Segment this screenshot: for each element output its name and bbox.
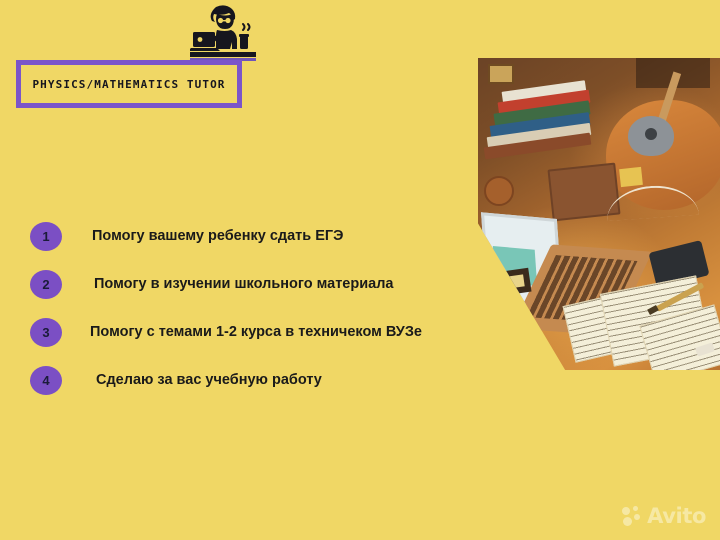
services-list: 1 Помогу вашему ребенку сдать ЕГЭ 2 Помо… <box>30 212 470 404</box>
wall-picture-frame <box>488 64 514 84</box>
list-item-number-badge: 4 <box>30 366 62 395</box>
tutor-advertisement-poster: PHYSICS/MATHEMATICS TUTOR 1 Помогу вашем… <box>0 0 720 540</box>
list-item-label: Помогу в изучении школьного материала <box>94 276 393 292</box>
list-item: 1 Помогу вашему ребенку сдать ЕГЭ <box>30 212 470 260</box>
illustration-artwork <box>478 58 720 370</box>
list-item-number-badge: 1 <box>30 222 62 251</box>
list-item-label: Помогу с темами 1-2 курса в техничеком В… <box>90 324 422 340</box>
avito-watermark: Avito <box>622 504 706 528</box>
list-item-number-badge: 2 <box>30 270 62 299</box>
guitar-sound-hole <box>645 128 657 140</box>
list-item-label: Сделаю за вас учебную работу <box>96 372 322 388</box>
study-desk-illustration <box>478 58 720 370</box>
page-title-badge: PHYSICS/MATHEMATICS TUTOR <box>16 60 242 108</box>
list-item-label: Помогу вашему ребенку сдать ЕГЭ <box>92 228 343 244</box>
list-item-number-badge: 3 <box>30 318 62 347</box>
avito-brand-label: Avito <box>647 504 706 528</box>
list-item: 2 Помогу в изучении школьного материала <box>30 260 470 308</box>
sticky-note <box>619 167 643 187</box>
list-item: 4 Сделаю за вас учебную работу <box>30 356 470 404</box>
list-item: 3 Помогу с темами 1-2 курса в техничеком… <box>30 308 470 356</box>
desk-mug <box>484 176 514 206</box>
page-title: PHYSICS/MATHEMATICS TUTOR <box>32 78 225 91</box>
avito-dots-logo <box>622 506 642 526</box>
title-badge-inner-border: PHYSICS/MATHEMATICS TUTOR <box>21 65 237 103</box>
person-at-desk-with-laptop-icon <box>190 2 256 64</box>
